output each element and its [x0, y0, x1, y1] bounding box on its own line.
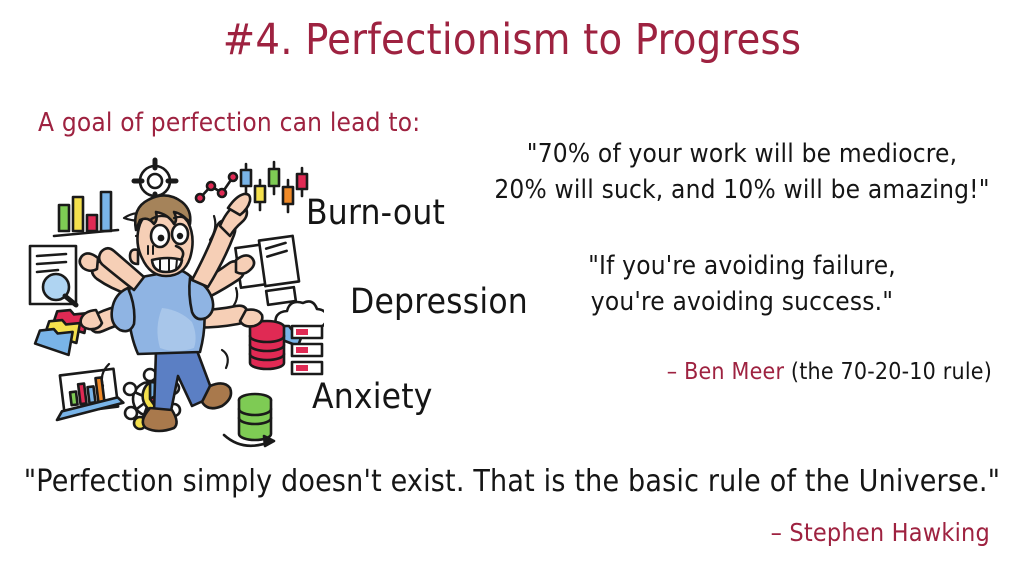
- quote-attribution-ben-meer: – Ben Meer (the 70-20-10 rule): [492, 356, 992, 388]
- quote-line: "If you're avoiding failure,: [512, 248, 972, 284]
- database-checklist-icon: [224, 321, 322, 446]
- red-database-icon: [250, 321, 284, 369]
- consequence-label-anxiety: Anxiety: [312, 376, 433, 418]
- line-graph-icon: [196, 173, 237, 202]
- attribution-author: – Ben Meer: [667, 359, 784, 385]
- slide-canvas: #4. Perfectionism to Progress A goal of …: [0, 0, 1024, 576]
- page-title: #4. Perfectionism to Progress: [0, 12, 1024, 68]
- quote-line: "70% of your work will be mediocre,: [492, 136, 992, 172]
- quote-line: you're avoiding success.": [512, 284, 972, 320]
- consequence-label-depression: Depression: [350, 281, 528, 323]
- quote-avoiding-failure: "If you're avoiding failure, you're avoi…: [512, 248, 972, 320]
- laptop-chart-icon: [55, 369, 124, 420]
- document-search-icon: [30, 246, 76, 305]
- stressed-multitasking-man-illustration: [24, 150, 324, 450]
- green-database-icon: [239, 394, 271, 440]
- candlestick-chart-icon: [241, 162, 307, 212]
- consequence-label-burn-out: Burn-out: [306, 192, 445, 234]
- footer-quote: "Perfection simply doesn't exist. That i…: [0, 462, 1024, 502]
- quote-line: 20% will suck, and 10% will be amazing!": [492, 172, 992, 208]
- lead-in-text: A goal of perfection can lead to:: [38, 106, 420, 140]
- quote-ben-meer: "70% of your work will be mediocre, 20% …: [492, 136, 992, 208]
- footer-attribution: – Stephen Hawking: [0, 516, 990, 550]
- bar-chart-icon: [54, 192, 118, 236]
- attribution-note: (the 70-20-10 rule): [791, 359, 992, 385]
- checklist-icon: [292, 326, 322, 374]
